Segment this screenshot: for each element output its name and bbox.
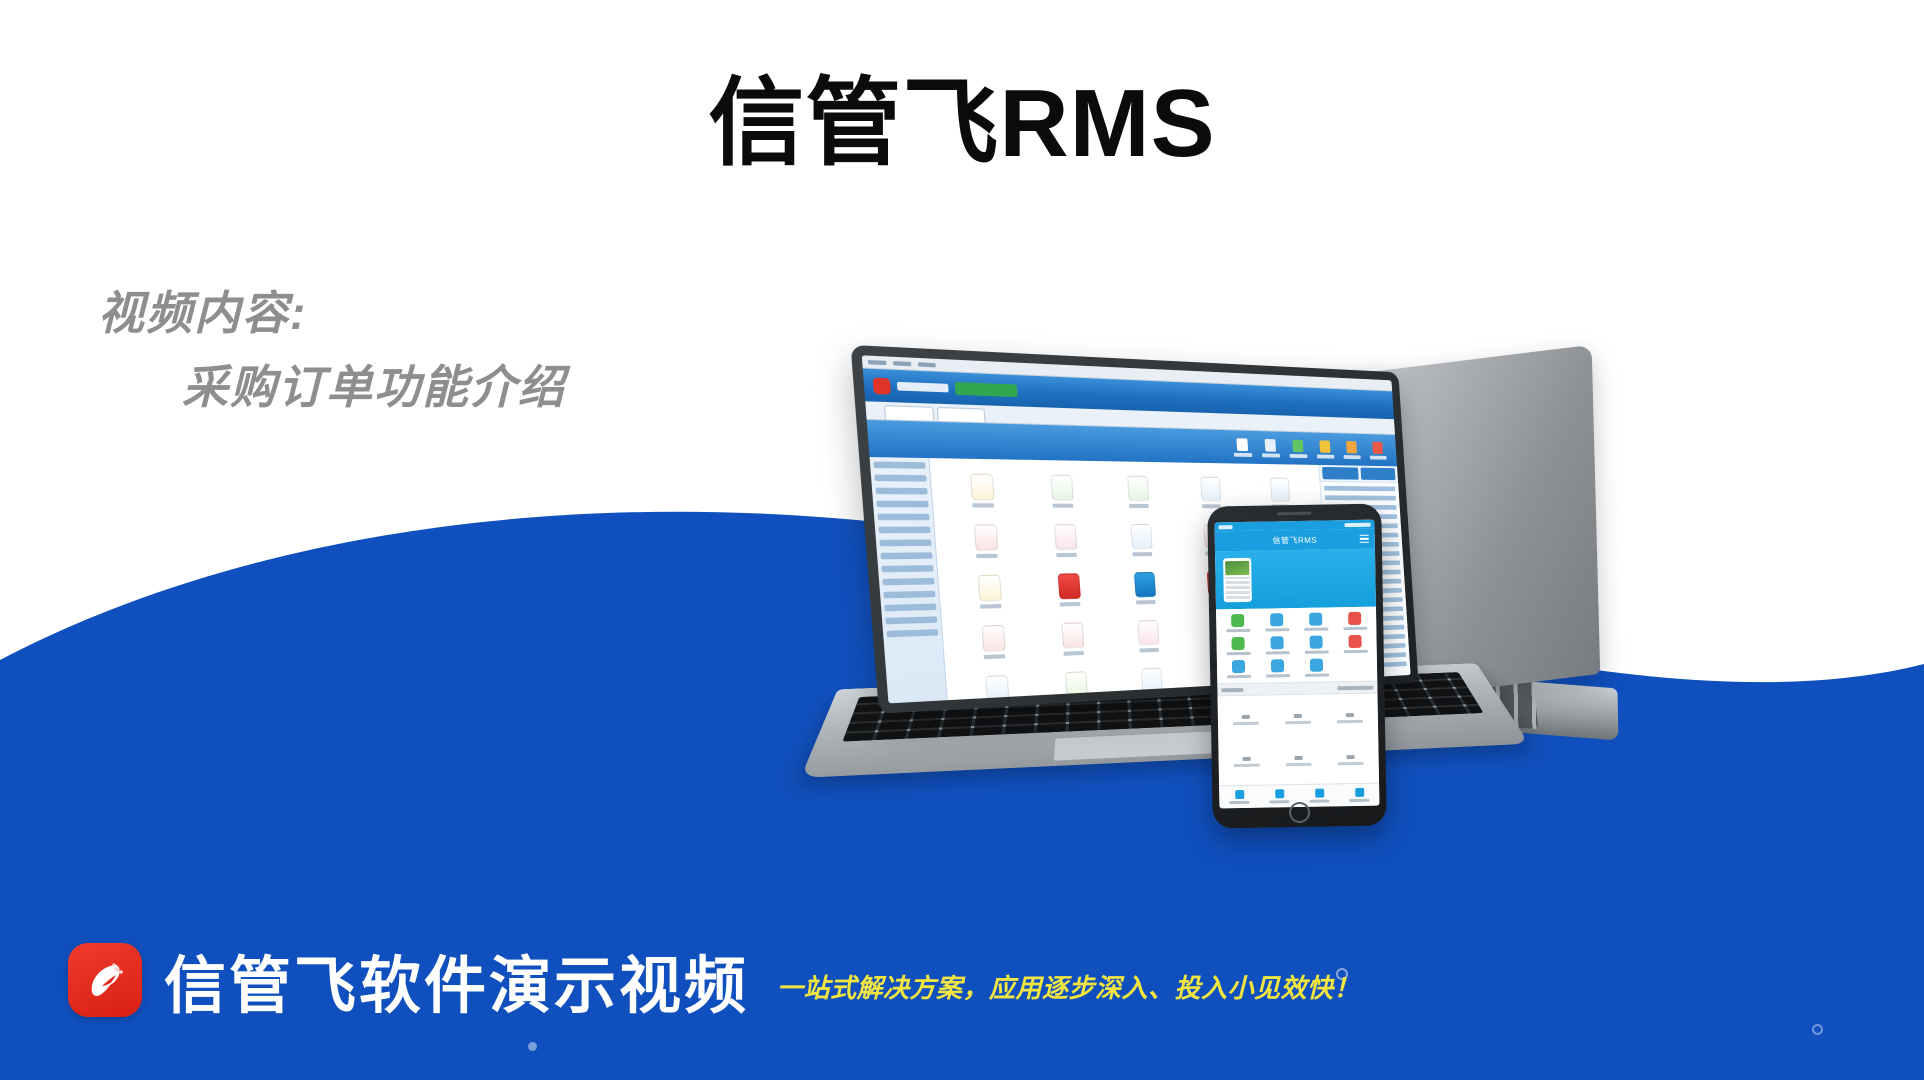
footer-tagline: 一站式解决方案，应用逐步深入、投入小见效快！ <box>777 968 1360 1005</box>
menubar-item <box>868 359 887 364</box>
right-panel-tab[interactable] <box>1322 467 1358 480</box>
toolbar-user-icon[interactable] <box>1233 438 1253 457</box>
sidebar-item[interactable] <box>886 629 938 637</box>
right-panel-item[interactable] <box>1325 495 1396 500</box>
sidebar-item[interactable] <box>885 616 937 624</box>
app-tab[interactable] <box>937 407 986 422</box>
app-icon[interactable] <box>1023 474 1100 516</box>
sidebar-item[interactable] <box>876 501 928 508</box>
phone-home-button[interactable] <box>1289 802 1310 823</box>
stat-cell[interactable] <box>1220 740 1272 782</box>
mobile-app-icon[interactable] <box>1258 613 1295 632</box>
section-title <box>1221 687 1243 691</box>
app-icon[interactable] <box>1105 524 1178 565</box>
stat-cell[interactable] <box>1272 698 1324 740</box>
app-brand-badge <box>955 382 1018 397</box>
app-icon[interactable] <box>1038 670 1114 703</box>
mobile-app-icon[interactable] <box>1219 614 1256 633</box>
sidebar-item[interactable] <box>880 552 932 559</box>
app-brand-text <box>897 382 949 393</box>
app-icon[interactable] <box>945 524 1025 567</box>
sidebar-item[interactable] <box>873 461 925 468</box>
sidebar-item[interactable] <box>884 604 936 612</box>
app-icon[interactable] <box>1031 573 1107 616</box>
menubar-item <box>893 361 911 366</box>
nav-home-icon[interactable] <box>1219 786 1259 809</box>
phone-mockup: 信管飞RMS <box>1207 504 1387 829</box>
hamburger-icon[interactable] <box>1360 534 1369 543</box>
app-icon[interactable] <box>1027 524 1104 566</box>
phone-screen: 信管飞RMS <box>1214 520 1379 809</box>
footer-banner: 信管飞软件演示视频 一站式解决方案，应用逐步深入、投入小见效快！ <box>0 910 1924 1080</box>
mobile-app-icon[interactable] <box>1219 637 1256 656</box>
mobile-promo-banner[interactable] <box>1215 549 1376 610</box>
mobile-app-title: 信管飞RMS <box>1272 534 1317 546</box>
app-icon[interactable] <box>942 473 1023 516</box>
sidebar-item[interactable] <box>881 565 933 572</box>
stat-cell[interactable] <box>1273 740 1325 782</box>
app-icon[interactable] <box>957 674 1037 704</box>
statusbar-time <box>1219 525 1233 529</box>
mobile-app-icon[interactable] <box>1298 658 1335 677</box>
toolbar-exit-icon[interactable] <box>1369 441 1387 459</box>
app-icon[interactable] <box>1101 475 1174 516</box>
device-mockup-group: 信管飞RMS <box>880 370 1924 930</box>
video-content-topic: 采购订单功能介绍 <box>182 359 566 417</box>
statusbar-indicators <box>1345 522 1371 526</box>
banner-phone-illustration <box>1223 558 1252 602</box>
toolbar-document-icon[interactable] <box>1261 438 1280 457</box>
app-icon[interactable] <box>953 624 1033 669</box>
menubar-item <box>918 362 936 367</box>
mobile-app-icon[interactable] <box>1336 612 1373 631</box>
app-icon[interactable] <box>1112 619 1185 662</box>
toolbar-lock-icon[interactable] <box>1316 440 1334 458</box>
section-filters[interactable] <box>1337 685 1373 690</box>
stat-cell[interactable] <box>1220 698 1272 740</box>
right-panel-tabs <box>1319 465 1398 483</box>
mobile-app-icon[interactable] <box>1220 660 1257 679</box>
sidebar-item[interactable] <box>883 591 935 599</box>
app-tab[interactable] <box>884 405 935 421</box>
mobile-app-icon[interactable] <box>1258 636 1295 655</box>
sidebar-item[interactable] <box>878 527 930 534</box>
app-icon[interactable] <box>1034 621 1110 665</box>
mobile-app-icon[interactable] <box>1259 659 1296 678</box>
app-icon[interactable] <box>1108 572 1181 614</box>
video-content-block: 视频内容: 采购订单功能介绍 <box>98 285 566 416</box>
stat-cell[interactable] <box>1325 739 1377 781</box>
mobile-app-icon[interactable] <box>1297 612 1334 631</box>
app-icon[interactable] <box>949 574 1029 618</box>
stat-cell[interactable] <box>1324 697 1376 739</box>
footer-brand-name: 信管飞软件演示视频 <box>164 935 749 1025</box>
mobile-app-icon[interactable] <box>1297 635 1334 654</box>
mobile-app-icon[interactable] <box>1336 635 1373 654</box>
sidebar-item[interactable] <box>882 578 934 585</box>
video-content-label: 视频内容: <box>98 285 566 343</box>
mobile-app-icon[interactable] <box>1337 658 1374 677</box>
mobile-stats-grid <box>1218 694 1380 786</box>
right-panel-tab[interactable] <box>1360 468 1395 481</box>
page-title: 信管飞RMS <box>0 72 1924 176</box>
sidebar-item[interactable] <box>874 475 926 482</box>
app-logo-icon <box>873 377 891 394</box>
nav-person-icon[interactable] <box>1339 784 1379 807</box>
sidebar-item[interactable] <box>879 539 931 546</box>
toolbar-person-icon[interactable] <box>1343 440 1361 458</box>
sidebar-item[interactable] <box>877 514 929 521</box>
presentation-slide: 信管飞RMS 视频内容: 采购订单功能介绍 <box>0 0 1924 1080</box>
toolbar-battery-icon[interactable] <box>1289 439 1308 458</box>
phone-speaker <box>1277 512 1311 516</box>
sidebar-item[interactable] <box>875 488 927 495</box>
mobile-icon-grid <box>1216 607 1377 684</box>
right-panel-item[interactable] <box>1324 486 1395 491</box>
mobile-app-header: 信管飞RMS <box>1215 529 1375 552</box>
bird-logo-icon <box>68 943 142 1017</box>
